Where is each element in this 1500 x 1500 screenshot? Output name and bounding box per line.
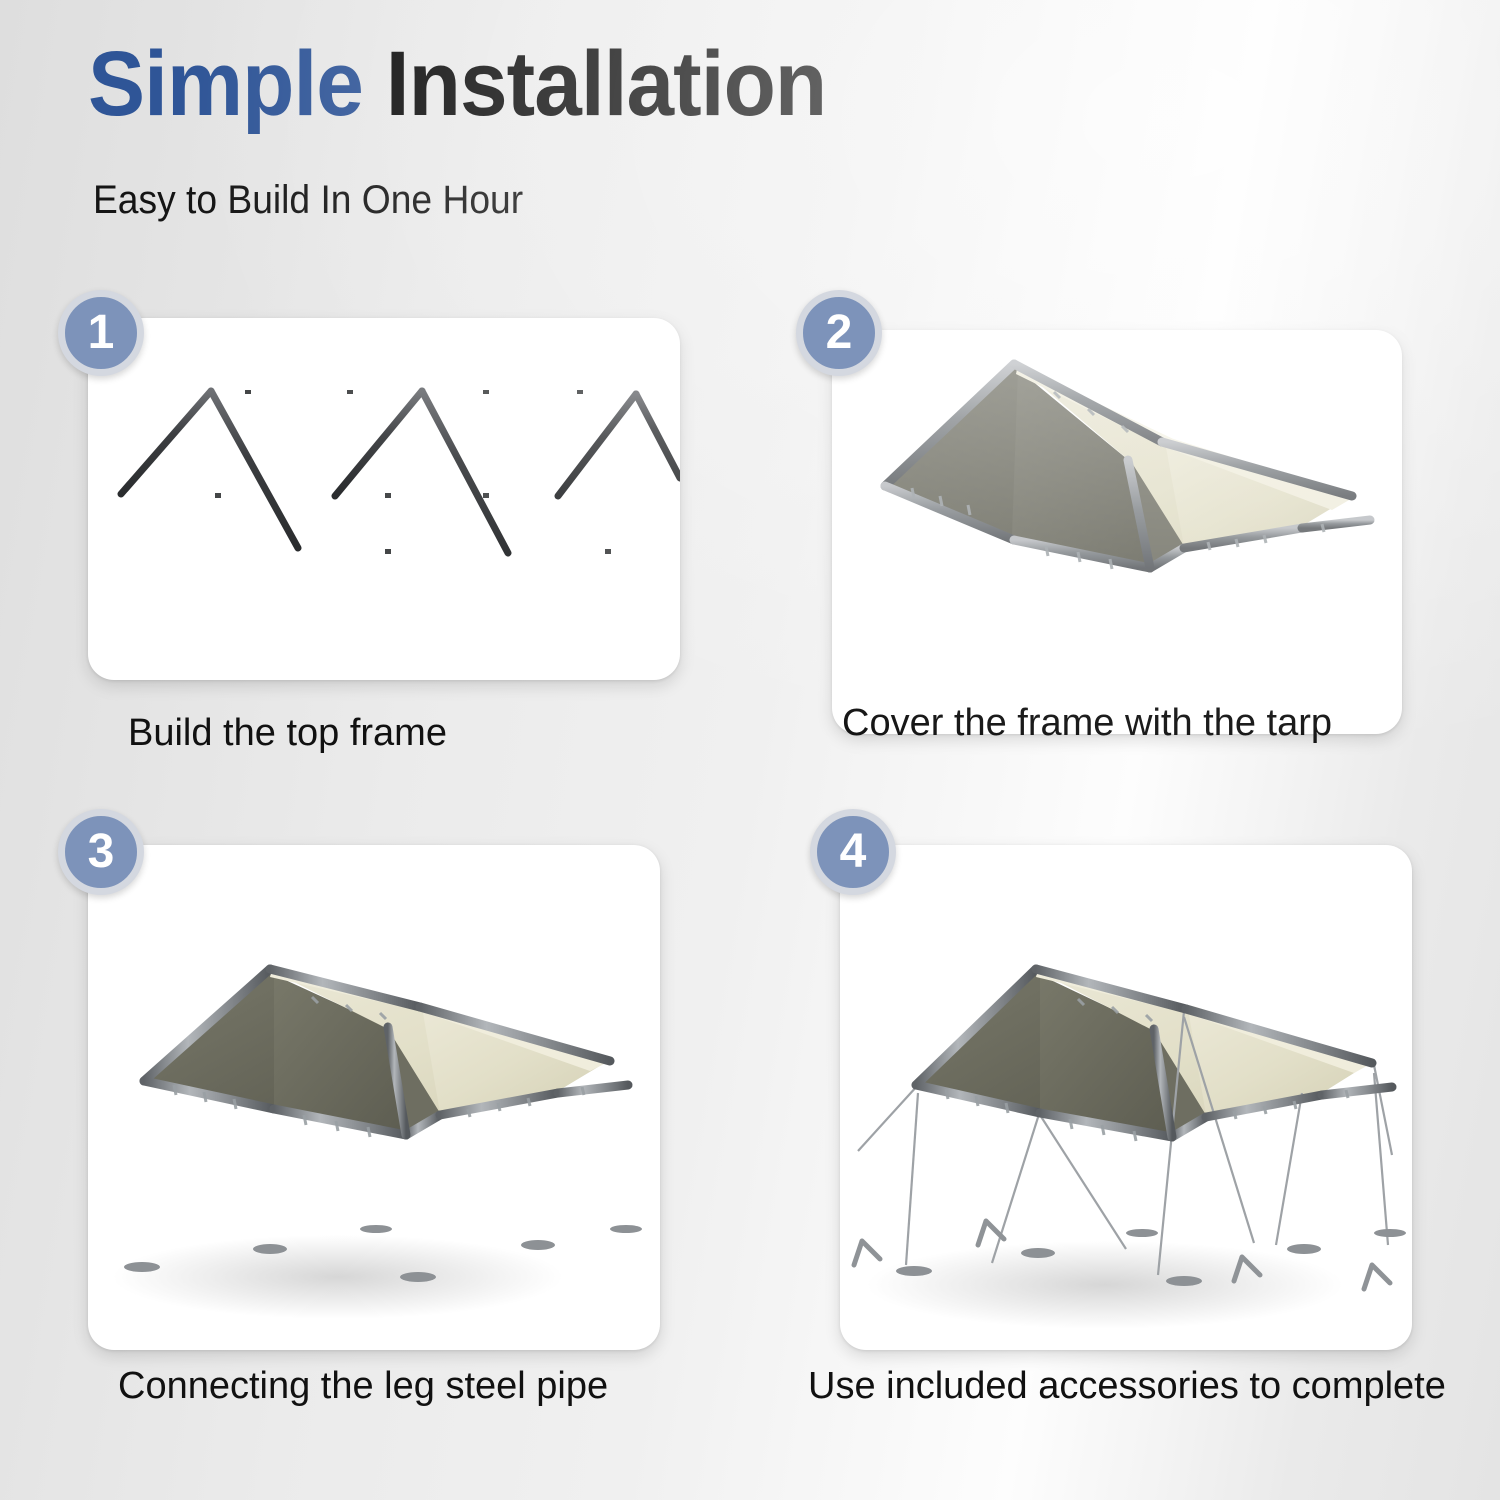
step-caption-3: Connecting the leg steel pipe <box>118 1365 608 1408</box>
step-caption-1: Build the top frame <box>128 712 447 755</box>
step-card-1: 1 Build the top frame <box>88 318 680 680</box>
step-4-image-card <box>840 845 1412 1350</box>
step-card-2: 2 Cover the frame with the tarp <box>832 330 1402 734</box>
step-2-image-card <box>832 330 1402 734</box>
carport-with-legs-illustration <box>88 845 660 1350</box>
steps-grid: 1 Build the top frame <box>0 0 1500 1500</box>
carport-top-frame-skeleton-illustration <box>88 318 680 680</box>
step-number-badge-4: 4 <box>810 809 896 895</box>
step-caption-2: Cover the frame with the tarp <box>842 702 1332 745</box>
carport-roof-with-tarp-illustration <box>832 330 1402 734</box>
step-card-4: 4 Use included accessories to complete <box>840 845 1412 1350</box>
step-number-badge-2: 2 <box>796 290 882 376</box>
step-number-badge-1: 1 <box>58 290 144 376</box>
step-caption-4: Use included accessories to complete <box>808 1365 1446 1408</box>
installation-infographic: Simple Installation Easy to Build In One… <box>0 0 1500 1500</box>
step-3-image-card <box>88 845 660 1350</box>
step-1-image-card <box>88 318 680 680</box>
step-number-badge-3: 3 <box>58 809 144 895</box>
carport-with-guy-ropes-illustration <box>840 845 1412 1350</box>
step-card-3: 3 Connecting the leg steel pipe <box>88 845 660 1350</box>
